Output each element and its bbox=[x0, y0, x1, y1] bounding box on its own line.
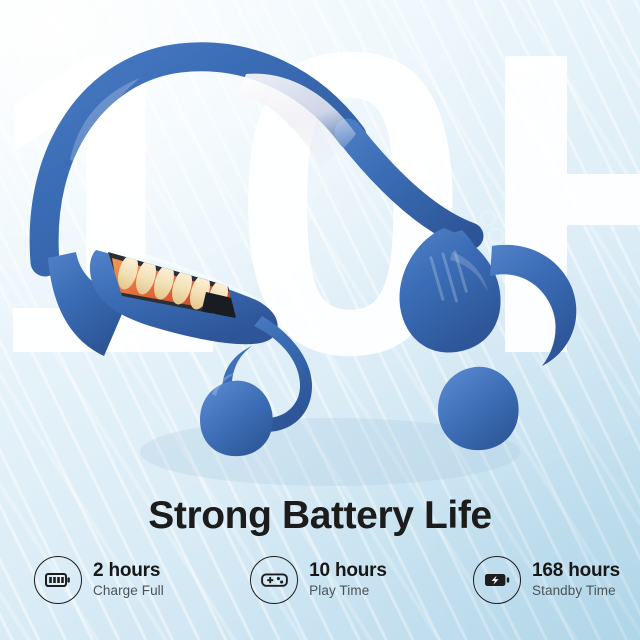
gamepad-icon bbox=[250, 556, 298, 604]
feature-play-time: 10 hours Play Time bbox=[250, 556, 387, 604]
feature-label: Play Time bbox=[309, 584, 387, 598]
feature-text: 10 hours Play Time bbox=[309, 561, 387, 598]
feature-charge-full: 2 hours Charge Full bbox=[34, 556, 164, 604]
feature-value: 168 hours bbox=[532, 561, 620, 581]
feature-text: 168 hours Standby Time bbox=[532, 561, 620, 598]
headphones-illustration bbox=[0, 0, 640, 520]
feature-label: Standby Time bbox=[532, 584, 620, 598]
feature-value: 10 hours bbox=[309, 561, 387, 581]
battery-full-icon bbox=[34, 556, 82, 604]
feature-text: 2 hours Charge Full bbox=[93, 561, 164, 598]
feature-value: 2 hours bbox=[93, 561, 164, 581]
page-title: Strong Battery Life bbox=[0, 494, 640, 538]
feature-standby-time: 168 hours Standby Time bbox=[473, 556, 620, 604]
feature-list: 2 hours Charge Full 10 hours Play Time bbox=[34, 556, 620, 604]
feature-label: Charge Full bbox=[93, 584, 164, 598]
product-marketing-image: 10 H bbox=[0, 0, 640, 640]
product-photo bbox=[0, 0, 640, 520]
battery-charging-icon bbox=[473, 556, 521, 604]
